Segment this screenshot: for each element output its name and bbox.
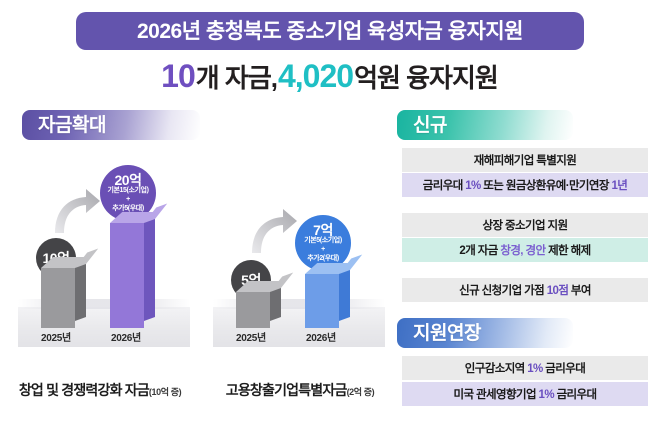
extension-row-0-text: 인구감소지역 1% 금리우대 [465, 360, 585, 376]
page-title-bar: 2026년 충청북도 중소기업 육성자금 융자지원 [76, 12, 584, 50]
subtitle-count-unit: 개 자금, [196, 58, 277, 95]
chart-caption-note: (10억 증) [149, 385, 181, 398]
new-item-1-header: 상장 중소기업 지원 [402, 213, 648, 237]
section-header-new-label: 신규 [397, 116, 447, 135]
value-bubble-2026-base: 기본15(소기업) [107, 187, 148, 196]
new-item-0-header: 재해피해기업 특별지원 [402, 148, 648, 172]
growth-arrow-icon [247, 208, 299, 256]
section-header-expand-label: 자금확대 [22, 116, 106, 135]
value-bubble-2026-plus: + [321, 246, 325, 255]
extension-row-1: 미국 관세영향기업 1% 금리우대 [402, 382, 648, 406]
value-bubble-2026-value: 7억 [313, 223, 333, 238]
chart-caption-employment-fund: 고용창출기업특별자금(2억 증) [200, 380, 400, 402]
infographic-root: 2026년 충청북도 중소기업 육성자금 융자지원 10개 자금, 4,020억… [0, 0, 660, 436]
bar-chart-startup-fund: 10억 2025년 20억 기본15(소기업) + 추가5(우대) 2026년 [10, 160, 196, 375]
x-axis-label-2025: 2025년 [26, 329, 86, 344]
growth-arrow-icon [50, 188, 102, 236]
bar-front-face [236, 292, 270, 328]
x-axis-label-2025: 2025년 [221, 329, 281, 344]
subtitle-amount: 4,020 [278, 58, 353, 95]
subtitle-amount-unit: 억원 융자지원 [354, 58, 498, 95]
bar-2025 [41, 268, 75, 328]
new-bonus-point-text: 신규 신청기업 가점 10점 부여 [459, 282, 591, 298]
new-item-0-detail-text: 금리우대 1% 또는 원금상환유예·만기연장 1년 [423, 177, 628, 193]
new-item-0-detail: 금리우대 1% 또는 원금상환유예·만기연장 1년 [402, 173, 648, 197]
bar-2026 [305, 274, 339, 328]
bar-side-face [144, 212, 155, 321]
section-header-expand: 자금확대 [22, 110, 200, 140]
new-item-1-header-label: 상장 중소기업 지원 [482, 217, 567, 233]
chart-caption-note: (2억 증) [347, 385, 375, 398]
subtitle: 10개 자금, 4,020억원 융자지원 [0, 56, 660, 96]
value-bubble-2026-plus: + [126, 196, 130, 205]
subtitle-fund-count: 10 [161, 58, 195, 95]
section-header-extension-label: 지원연장 [397, 324, 481, 343]
chart-caption-title: 창업 및 경쟁력강화 자금 [19, 380, 149, 400]
bar-front-face [41, 268, 75, 328]
extension-row-0: 인구감소지역 1% 금리우대 [402, 356, 648, 380]
section-header-new: 신규 [397, 110, 573, 140]
value-bubble-2026-base: 기본5(소기업) [304, 237, 342, 246]
new-item-0-header-label: 재해피해기업 특별지원 [474, 152, 576, 168]
x-axis-label-2026: 2026년 [291, 329, 351, 344]
chart-caption-title: 고용창출기업특별자금 [226, 380, 347, 400]
extension-row-1-text: 미국 관세영향기업 1% 금리우대 [454, 386, 597, 402]
section-header-extension: 지원연장 [397, 318, 573, 348]
new-item-1-detail-text: 2개 자금 창경, 경안 제한 해제 [459, 242, 590, 258]
bar-2025 [236, 292, 270, 328]
value-bubble-2026-value: 20억 [115, 173, 142, 188]
bar-front-face [305, 274, 339, 328]
new-item-1-detail: 2개 자금 창경, 경안 제한 해제 [402, 238, 648, 262]
bar-chart-employment-fund: 5억 2025년 7억 기본5(소기업) + 추가2(우대) 2026년 [205, 160, 391, 375]
bar-front-face [110, 223, 144, 328]
new-bonus-point-row: 신규 신청기업 가점 10점 부여 [402, 278, 648, 302]
chart-caption-startup-fund: 창업 및 경쟁력강화 자금(10억 증) [0, 380, 200, 402]
bar-2026 [110, 223, 144, 328]
page-title: 2026년 충청북도 중소기업 육성자금 융자지원 [137, 21, 523, 42]
x-axis-label-2026: 2026년 [96, 329, 156, 344]
